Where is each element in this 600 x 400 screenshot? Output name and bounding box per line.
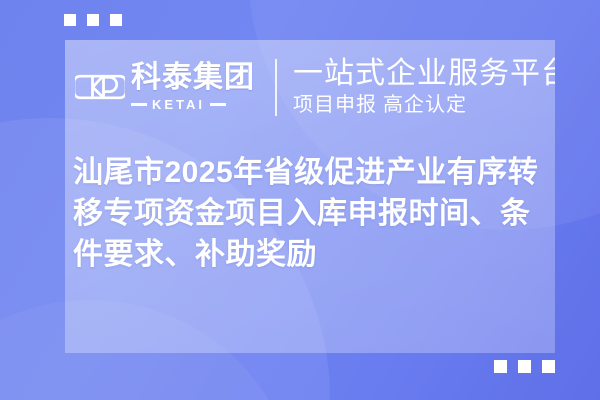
content-panel: 科泰集团 KETAI 一站式企业服务平台 项目申报 高企认定 汕尾市2025年省… — [65, 40, 555, 353]
brand-wordmark: 科泰集团 KETAI — [131, 63, 255, 111]
promo-banner: 科泰集团 KETAI 一站式企业服务平台 项目申报 高企认定 汕尾市2025年省… — [0, 0, 600, 400]
page-title: 汕尾市2025年省级促进产业有序转移专项资金项目入库申报时间、条件要求、补助奖励 — [73, 152, 547, 275]
square-dot-icon — [542, 360, 555, 373]
square-dot-icon — [110, 14, 122, 26]
ketai-diamond-kp-logo-icon — [75, 62, 125, 112]
tagline-main: 一站式企业服务平台 — [293, 58, 555, 90]
tagline-sub: 项目申报 高企认定 — [293, 94, 555, 116]
tagline-block: 一站式企业服务平台 项目申报 高企认定 — [293, 58, 555, 116]
rule-right-icon — [210, 103, 226, 106]
brand-name-en-row: KETAI — [131, 98, 255, 111]
brand-name-en: KETAI — [152, 98, 205, 111]
vertical-divider — [275, 59, 277, 116]
square-dot-icon — [87, 14, 99, 26]
decorative-dots-bottom-right — [494, 360, 555, 373]
square-dot-icon — [494, 360, 507, 373]
square-dot-icon — [518, 360, 531, 373]
rule-left-icon — [131, 103, 147, 106]
brand-name-cn: 科泰集团 — [131, 63, 255, 93]
square-dot-icon — [64, 14, 76, 26]
brand-header: 科泰集团 KETAI 一站式企业服务平台 项目申报 高企认定 — [73, 48, 555, 126]
decorative-dots-top-left — [64, 14, 122, 26]
